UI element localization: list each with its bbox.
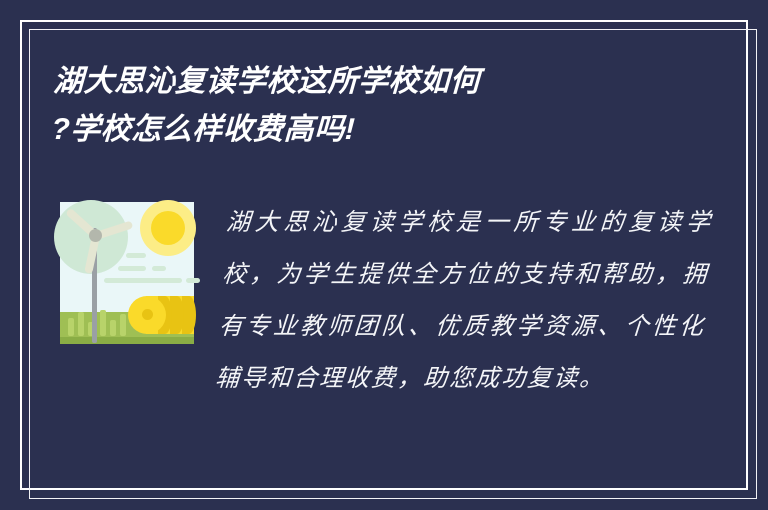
coin-stack-edge <box>182 296 196 334</box>
cloud-bar-icon <box>152 266 166 271</box>
page-title-line-2: ?学校怎么样收费高吗! <box>51 106 693 154</box>
article-card: 湖大思沁复读学校这所学校如何 ?学校怎么样收费高吗! <box>0 0 768 510</box>
grass-blade <box>100 310 106 336</box>
ground-strip <box>60 337 194 344</box>
grass-blade <box>110 320 116 336</box>
grass-blade <box>78 312 84 336</box>
sun-core-icon <box>151 211 185 245</box>
wind-farm-coins-illustration <box>54 196 200 348</box>
grass-blade <box>68 318 74 336</box>
cloud-bar-icon <box>104 278 182 283</box>
coin-stack-edge <box>170 296 184 334</box>
cloud-bar-icon <box>126 253 146 258</box>
page-title-line-1: 湖大思沁复读学校这所学校如何 <box>52 58 694 106</box>
grass-blade <box>120 314 126 336</box>
body-paragraph: 湖大思沁复读学校是一所专业的复读学校，为学生提供全方位的支持和帮助，拥有专业教师… <box>213 196 714 404</box>
turbine-hub <box>89 229 102 242</box>
content-row: 湖大思沁复读学校是一所专业的复读学校，为学生提供全方位的支持和帮助，拥有专业教师… <box>54 196 714 404</box>
cloud-bar-icon <box>186 278 200 283</box>
coin-hole <box>142 309 153 320</box>
page-title: 湖大思沁复读学校这所学校如何 ?学校怎么样收费高吗! <box>51 58 694 154</box>
cloud-bar-icon <box>118 266 146 271</box>
